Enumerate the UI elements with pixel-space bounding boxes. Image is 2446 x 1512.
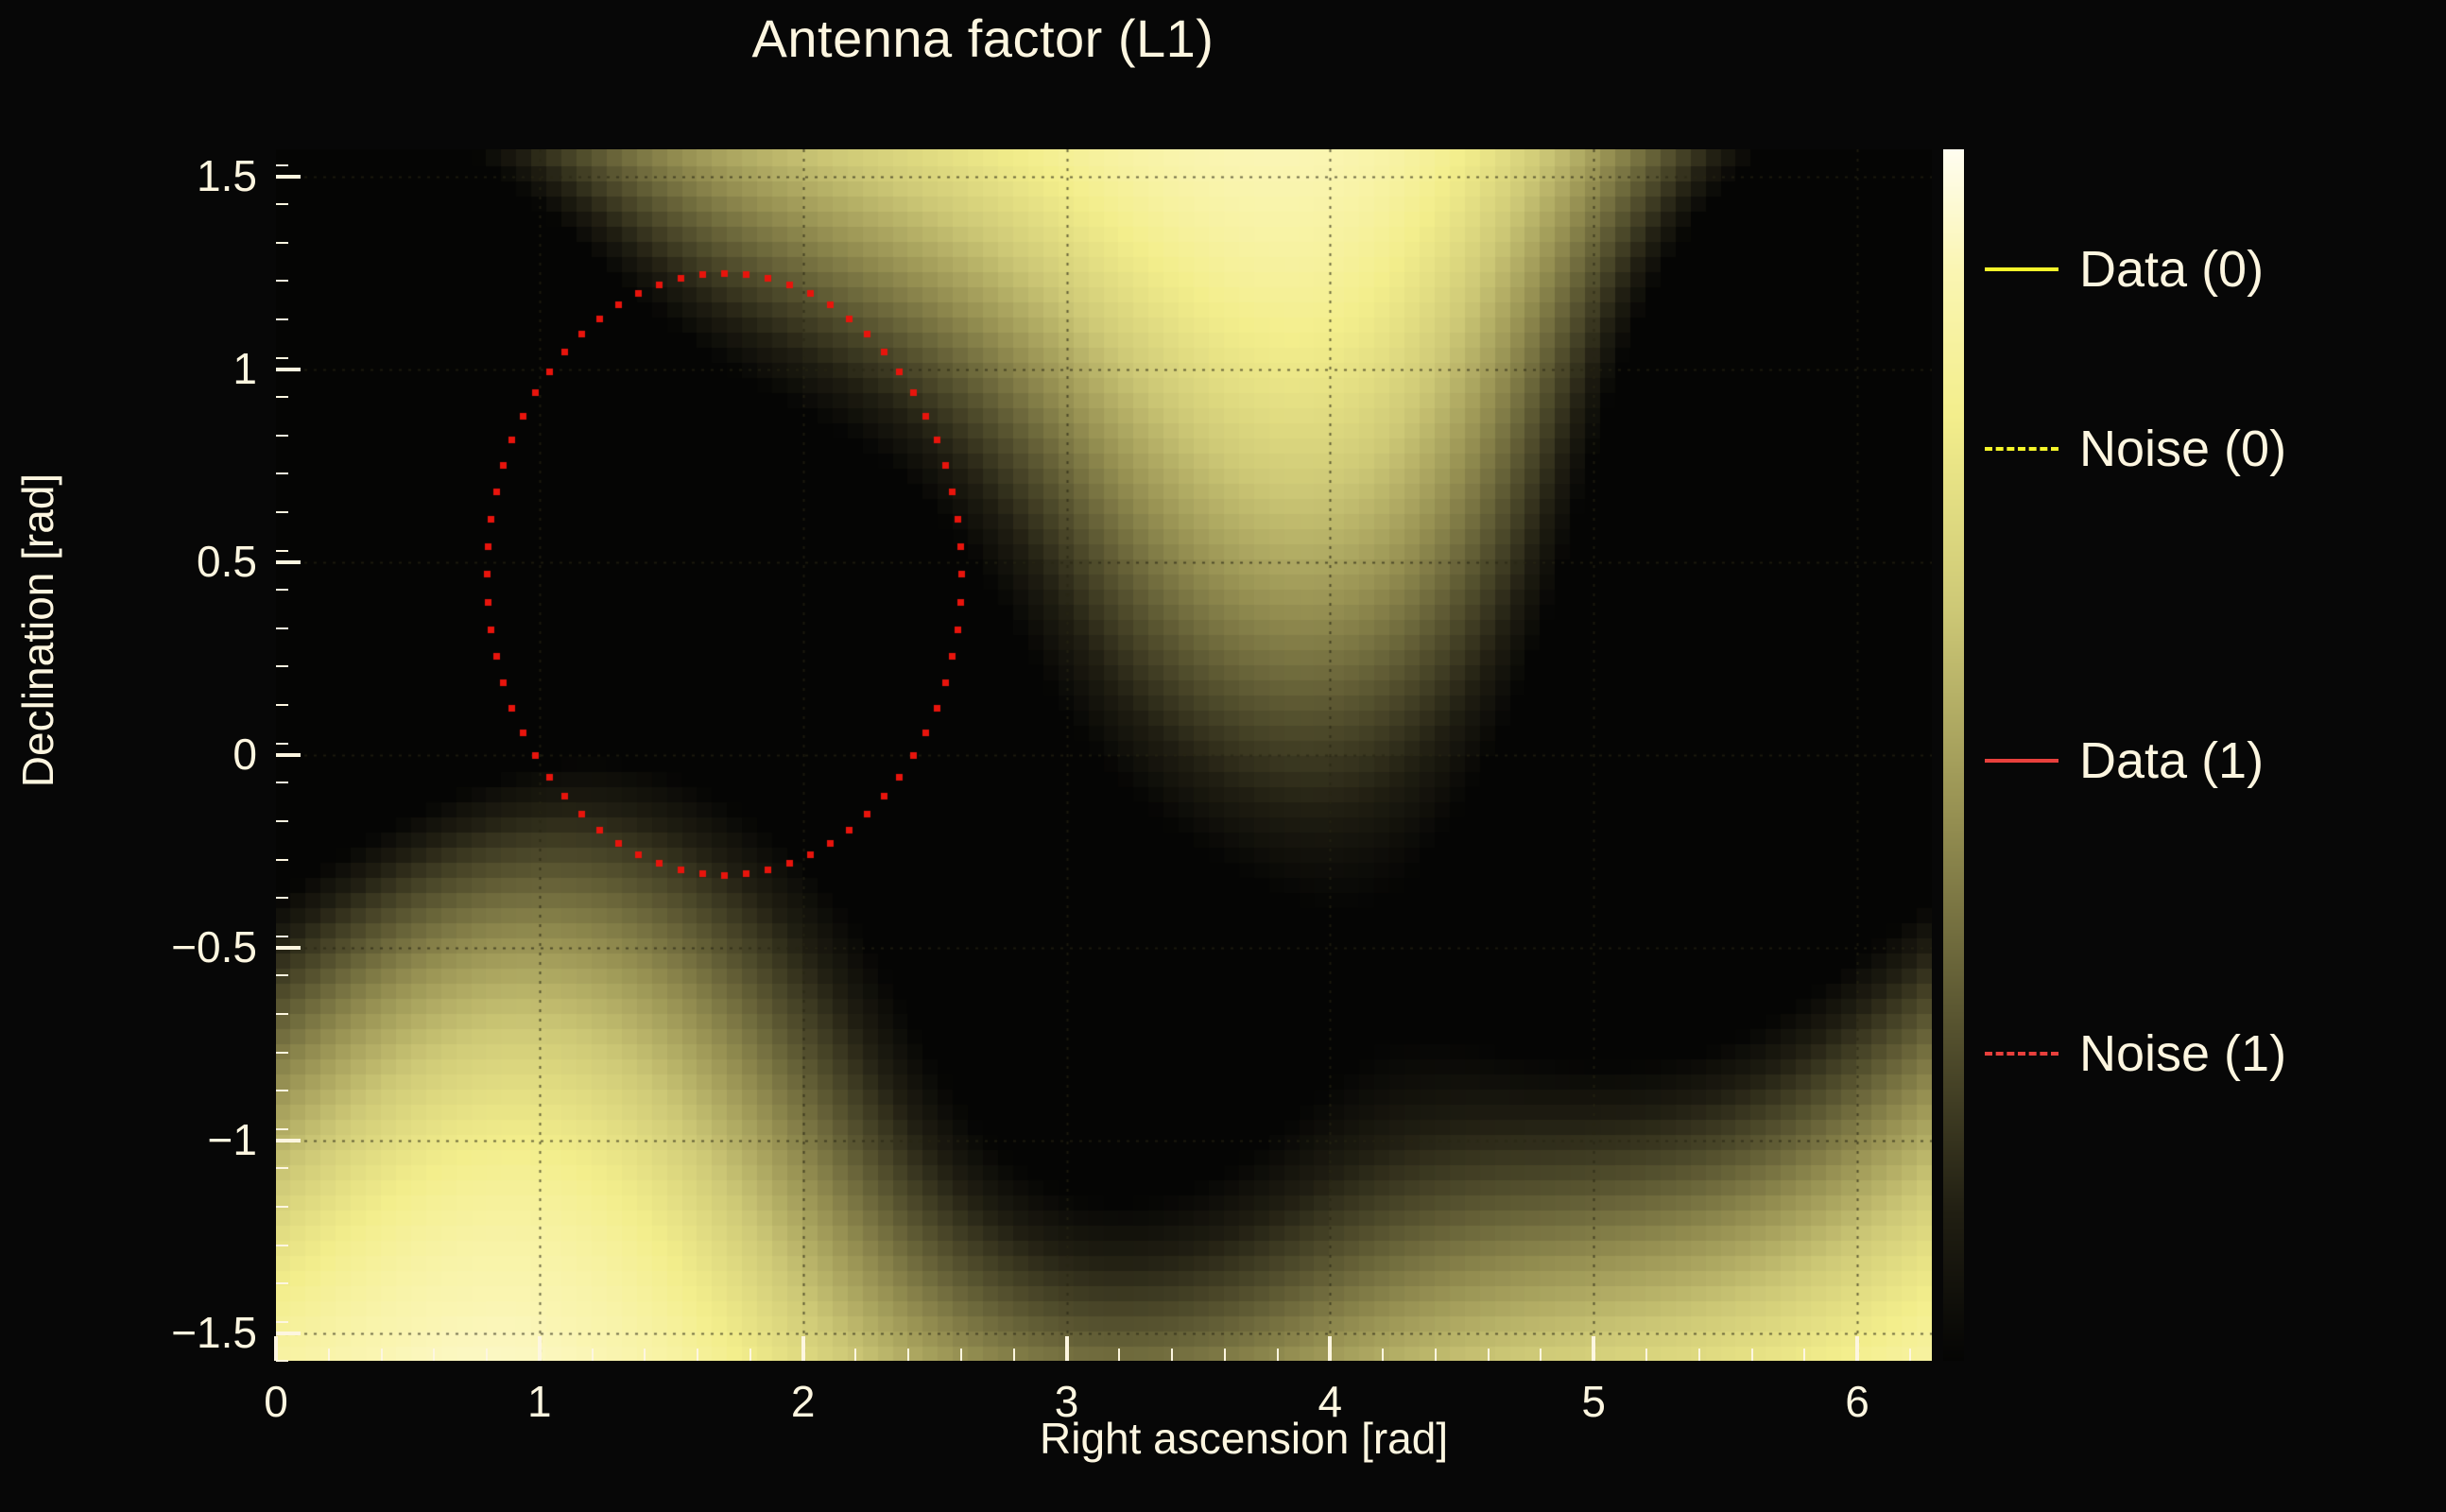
legend-label: Data (1) <box>2079 735 2264 786</box>
y-axis-tick-major <box>276 1332 301 1335</box>
x-axis-tick-minor <box>328 1349 330 1361</box>
colorbar[interactable] <box>1943 149 1964 1361</box>
x-axis-tick-minor <box>275 1349 277 1361</box>
y-axis-tick-minor <box>276 1052 288 1054</box>
y-axis-tick-minor <box>276 974 288 976</box>
y-axis-tick-minor <box>276 396 288 398</box>
y-axis-tick-minor <box>276 550 288 552</box>
legend-entry-2[interactable]: Noise (0) <box>1985 406 2286 491</box>
x-axis-tick-minor <box>1066 1349 1068 1361</box>
x-axis-tick-minor <box>1171 1349 1173 1361</box>
legend: Data (0)Noise (0)Data (1)Noise (1) <box>1985 132 2429 1361</box>
x-axis-tick-minor <box>1751 1349 1753 1361</box>
x-axis-tick-minor <box>1803 1349 1805 1361</box>
y-axis-tick-minor <box>276 511 288 513</box>
legend-entry-3[interactable]: Data (1) <box>1985 718 2264 803</box>
x-axis-tick-minor <box>1645 1349 1647 1361</box>
x-axis-tick-minor <box>592 1349 594 1361</box>
y-axis-tick-minor <box>276 164 288 166</box>
y-axis-title: Declination [rad] <box>12 300 63 961</box>
y-axis-tick-minor <box>276 820 288 822</box>
x-axis-tick-minor <box>697 1349 698 1361</box>
y-axis-tick-minor <box>276 1321 288 1323</box>
y-axis-tick-minor <box>276 318 288 320</box>
y-axis-tick-major <box>276 753 301 757</box>
y-axis-tick-minor <box>276 1090 288 1091</box>
y-axis-tick-minor <box>276 1245 288 1246</box>
x-axis-tick-minor <box>1593 1349 1594 1361</box>
y-axis-tick-major <box>276 1139 301 1143</box>
y-axis-tick-minor <box>276 1167 288 1169</box>
y-axis-tick-major <box>276 946 301 950</box>
y-axis-tick-label: −1 <box>2 1114 257 1165</box>
x-axis-tick-label: 0 <box>181 1376 370 1427</box>
legend-label: Noise (1) <box>2079 1028 2286 1079</box>
x-axis-tick-minor <box>1382 1349 1384 1361</box>
x-axis-tick-minor <box>1540 1349 1542 1361</box>
x-axis-tick-minor <box>433 1349 435 1361</box>
y-axis-tick-minor <box>276 280 288 282</box>
x-axis-tick-minor <box>1329 1349 1331 1361</box>
y-axis-tick-major <box>276 560 301 564</box>
x-axis-tick-minor <box>381 1349 383 1361</box>
x-axis-tick-minor <box>854 1349 856 1361</box>
x-axis-tick-minor <box>486 1349 488 1361</box>
x-axis-tick-minor <box>802 1349 804 1361</box>
contour-overlay-layer <box>276 149 1932 1361</box>
y-axis-tick-minor <box>276 704 288 706</box>
legend-label: Noise (0) <box>2079 423 2286 474</box>
y-axis-tick-label: 1.5 <box>2 150 257 201</box>
y-axis-tick-minor <box>276 435 288 437</box>
x-axis-tick-minor <box>1909 1349 1911 1361</box>
x-axis-tick-minor <box>1488 1349 1490 1361</box>
y-axis-tick-major <box>276 175 301 179</box>
y-axis-tick-minor <box>276 1128 288 1130</box>
x-axis-tick-label: 1 <box>445 1376 634 1427</box>
y-axis-tick-minor <box>276 936 288 937</box>
page-title: Antenna factor (L1) <box>0 8 1966 69</box>
y-axis-tick-minor <box>276 1206 288 1208</box>
x-axis-tick-minor <box>1277 1349 1279 1361</box>
y-axis-tick-minor <box>276 1013 288 1015</box>
y-axis-tick-minor <box>276 589 288 591</box>
colorbar-gradient <box>1943 149 1964 1361</box>
legend-entry-4[interactable]: Noise (1) <box>1985 1011 2286 1096</box>
x-axis-tick-minor <box>1118 1349 1120 1361</box>
y-axis-tick-minor <box>276 897 288 899</box>
y-axis-tick-major <box>276 368 301 371</box>
x-axis-title: Right ascension [rad] <box>1040 1413 1890 1464</box>
x-axis-tick-minor <box>1013 1349 1015 1361</box>
y-axis-tick-minor <box>276 203 288 205</box>
y-axis-tick-minor <box>276 1282 288 1284</box>
x-axis-tick-minor <box>749 1349 751 1361</box>
x-axis-tick-label: 2 <box>709 1376 898 1427</box>
y-axis-tick-minor <box>276 627 288 629</box>
legend-entry-1[interactable]: Data (0) <box>1985 227 2264 312</box>
y-axis-tick-minor <box>276 743 288 745</box>
legend-label: Data (0) <box>2079 244 2264 295</box>
y-axis-tick-minor <box>276 472 288 474</box>
x-axis-tick-minor <box>907 1349 909 1361</box>
y-axis-tick-minor <box>276 665 288 667</box>
y-axis-tick-minor <box>276 859 288 861</box>
y-axis-tick-minor <box>276 782 288 783</box>
y-axis-tick-minor <box>276 357 288 359</box>
x-axis-tick-minor <box>539 1349 541 1361</box>
x-axis-tick-minor <box>1435 1349 1437 1361</box>
y-axis-tick-label: −1.5 <box>2 1307 257 1358</box>
x-axis-tick-minor <box>1698 1349 1700 1361</box>
x-axis-tick-minor <box>1224 1349 1226 1361</box>
x-axis-tick-minor <box>960 1349 962 1361</box>
x-axis-tick-minor <box>1856 1349 1858 1361</box>
x-axis-tick-minor <box>644 1349 646 1361</box>
plot-area[interactable] <box>276 149 1932 1361</box>
y-axis-tick-minor <box>276 242 288 244</box>
